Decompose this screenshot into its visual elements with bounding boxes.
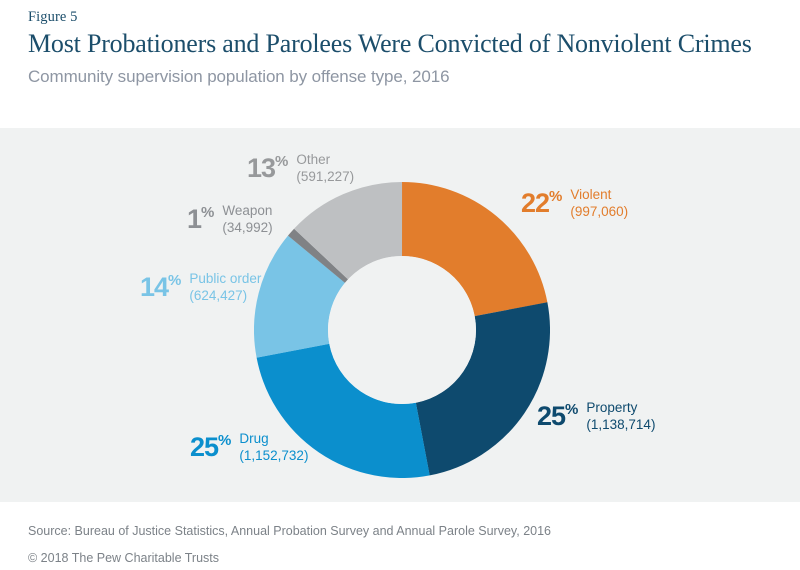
- callout-violent-name: Violent: [570, 187, 628, 204]
- callout-public-order-name: Public order: [189, 271, 261, 288]
- figure-footer: Source: Bureau of Justice Statistics, An…: [28, 522, 772, 568]
- callout-weapon: 1% Weapon (34,992): [187, 202, 273, 236]
- callout-public-order-text: Public order (624,427): [189, 270, 261, 304]
- callout-other-name: Other: [296, 152, 354, 169]
- callout-drug-count: (1,152,732): [239, 448, 308, 465]
- chart-panel: 22% Violent (997,060) 25% Property (1,13…: [0, 128, 800, 502]
- copyright-note: © 2018 The Pew Charitable Trusts: [28, 549, 772, 568]
- callout-public-order: 14% Public order (624,427): [140, 270, 261, 304]
- source-note: Source: Bureau of Justice Statistics, An…: [28, 522, 772, 541]
- callout-other-count: (591,227): [296, 169, 354, 186]
- callout-violent-percent: 22%: [521, 186, 562, 215]
- callout-property-percent: 25%: [537, 399, 578, 428]
- callout-weapon-name: Weapon: [222, 203, 272, 220]
- figure-subtitle: Community supervision population by offe…: [28, 66, 768, 88]
- callout-weapon-percent: 1%: [187, 202, 214, 231]
- callout-drug-name: Drug: [239, 431, 308, 448]
- callout-property-text: Property (1,138,714): [586, 399, 655, 433]
- callout-other-percent: 13%: [247, 151, 288, 180]
- figure-number: Figure 5: [28, 8, 768, 26]
- page-title: Most Probationers and Parolees Were Conv…: [28, 29, 768, 59]
- callout-drug: 25% Drug (1,152,732): [190, 430, 308, 464]
- callout-violent: 22% Violent (997,060): [521, 186, 628, 220]
- callout-violent-text: Violent (997,060): [570, 186, 628, 220]
- callout-public-order-percent: 14%: [140, 270, 181, 299]
- donut-hole: [328, 256, 476, 404]
- callout-property-count: (1,138,714): [586, 417, 655, 434]
- callout-weapon-text: Weapon (34,992): [222, 202, 272, 236]
- callout-property-name: Property: [586, 400, 655, 417]
- callout-other-text: Other (591,227): [296, 151, 354, 185]
- callout-other: 13% Other (591,227): [247, 151, 354, 185]
- callout-property: 25% Property (1,138,714): [537, 399, 655, 433]
- callout-violent-count: (997,060): [570, 204, 628, 221]
- callout-drug-text: Drug (1,152,732): [239, 430, 308, 464]
- callout-drug-percent: 25%: [190, 430, 231, 459]
- callout-public-order-count: (624,427): [189, 288, 261, 305]
- figure-container: Figure 5 Most Probationers and Parolees …: [0, 0, 800, 570]
- figure-header: Figure 5 Most Probationers and Parolees …: [28, 8, 768, 88]
- callout-weapon-count: (34,992): [222, 220, 272, 237]
